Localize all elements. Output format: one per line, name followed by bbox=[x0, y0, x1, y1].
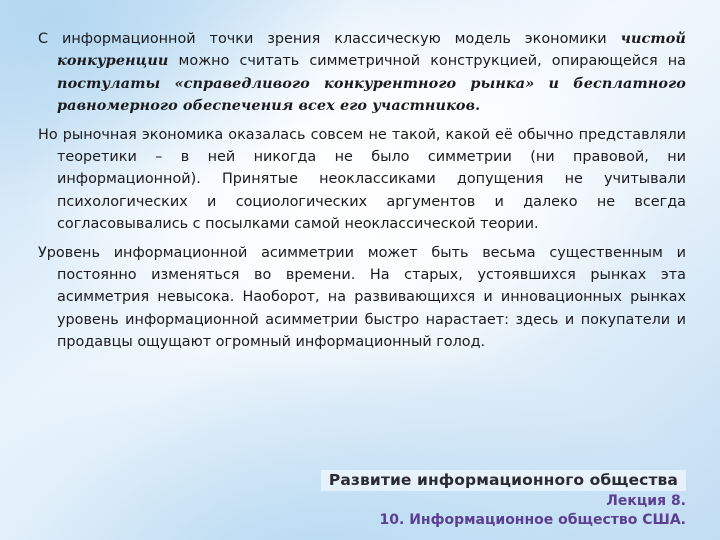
slide-title-highlight: Развитие информационного общества bbox=[321, 470, 686, 491]
paragraph-1-run-4-emphasis: постулаты «справедливого конкурентного р… bbox=[57, 75, 686, 114]
paragraph-1: С информационной точки зрения классическ… bbox=[38, 28, 686, 118]
slide-body-text: С информационной точки зрения классическ… bbox=[38, 28, 686, 360]
paragraph-1-run-1: С информационной точки зрения классическ… bbox=[38, 31, 621, 47]
lecture-number: Лекция 8. bbox=[266, 493, 686, 509]
lecture-topic: 10. Информационное общество США. bbox=[266, 512, 686, 528]
paragraph-3-run-1: Уровень информационной асимметрии может … bbox=[38, 245, 686, 351]
paragraph-3: Уровень информационной асимметрии может … bbox=[38, 242, 686, 354]
presentation-slide: С информационной точки зрения классическ… bbox=[0, 0, 720, 540]
paragraph-2-run-1: Но рыночная экономика оказалась совсем н… bbox=[38, 127, 686, 233]
slide-title: Развитие информационного общества bbox=[329, 471, 678, 489]
paragraph-1-run-3: можно считать симметричной конструкцией,… bbox=[168, 53, 686, 69]
paragraph-2: Но рыночная экономика оказалась совсем н… bbox=[38, 124, 686, 236]
slide-footer: Развитие информационного общества Лекция… bbox=[266, 470, 686, 528]
slide-content: С информационной точки зрения классическ… bbox=[0, 0, 720, 540]
